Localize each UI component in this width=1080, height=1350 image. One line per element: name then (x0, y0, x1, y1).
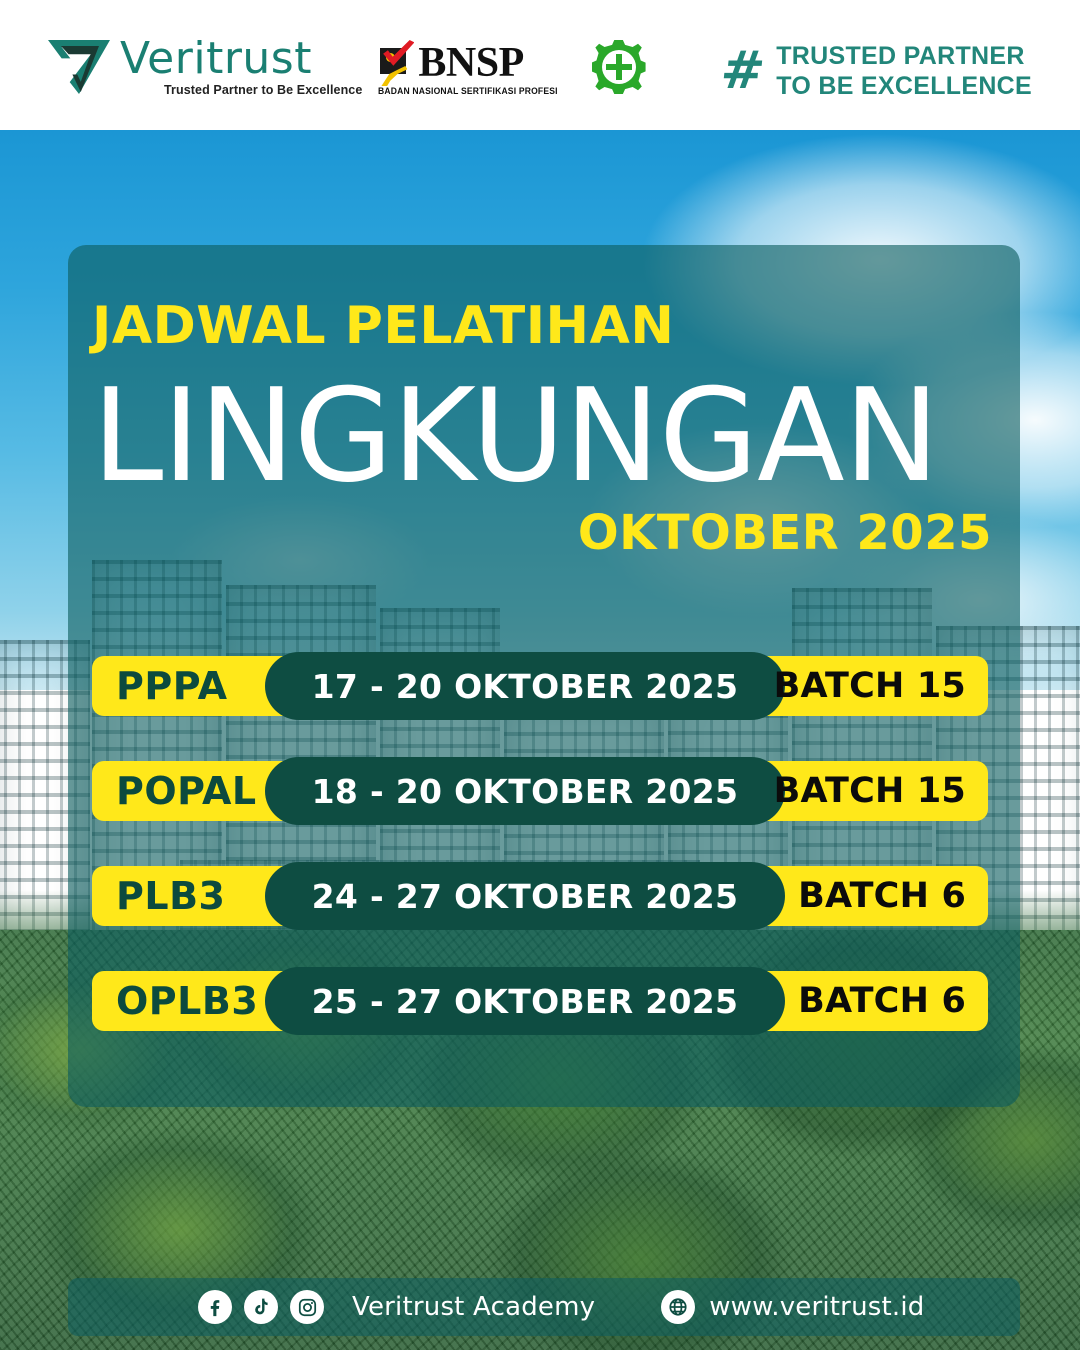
schedule-list: PPPA 17 - 20 OKTOBER 2025 BATCH 15 POPAL… (92, 652, 988, 1072)
bnsp-logo-top: BNSP (378, 38, 567, 84)
course-dates: 24 - 27 OKTOBER 2025 (312, 877, 739, 916)
batch-label: BATCH 15 (774, 656, 966, 716)
batch-label: BATCH 6 (798, 866, 966, 926)
footer-bar: Veritrust Academy www.veritrust.id (68, 1278, 1020, 1336)
course-code: POPAL (116, 761, 257, 821)
slogan-cluster: # TRUSTED PARTNER TO BE EXCELLENCE (721, 42, 1032, 101)
gear-plus-horizontal-icon (606, 64, 632, 70)
social-handle: Veritrust Academy (352, 1292, 595, 1322)
date-pill: 25 - 27 OKTOBER 2025 (265, 967, 785, 1035)
schedule-row[interactable]: PLB3 24 - 27 OKTOBER 2025 BATCH 6 (92, 862, 988, 930)
date-pill: 24 - 27 OKTOBER 2025 (265, 862, 785, 930)
course-code: OPLB3 (116, 971, 258, 1031)
batch-label: BATCH 6 (798, 971, 966, 1031)
hero-subline: OKTOBER 2025 (92, 509, 992, 557)
globe-icon[interactable] (661, 1290, 695, 1324)
green-gear-plus-icon (592, 40, 646, 94)
slogan-line-2: TO BE EXCELLENCE (776, 72, 1032, 102)
schedule-row[interactable]: POPAL 18 - 20 OKTOBER 2025 BATCH 15 (92, 757, 988, 825)
bnsp-full-name: BADAN NASIONAL SERTIFIKASI PROFESI (378, 87, 558, 96)
header-bar: Veritrust Trusted Partner to Be Excellen… (0, 0, 1080, 130)
bnsp-acronym: BNSP (418, 44, 523, 84)
facebook-icon[interactable] (198, 1290, 232, 1324)
veritrust-tagline: Trusted Partner to Be Excellence (164, 84, 362, 97)
course-code: PPPA (116, 656, 227, 716)
veritrust-wordmark: Veritrust Trusted Partner to Be Excellen… (120, 37, 362, 97)
hero-headline: LINGKUNGAN (92, 370, 992, 503)
course-dates: 25 - 27 OKTOBER 2025 (312, 982, 739, 1021)
brand-cluster: Veritrust Trusted Partner to Be Excellen… (48, 36, 646, 98)
course-dates: 18 - 20 OKTOBER 2025 (312, 772, 739, 811)
website-group: www.veritrust.id (661, 1290, 924, 1324)
slogan-lines: TRUSTED PARTNER TO BE EXCELLENCE (776, 42, 1032, 101)
poster-root: Veritrust Trusted Partner to Be Excellen… (0, 0, 1080, 1350)
hashtag-icon: # (718, 48, 764, 95)
bnsp-check-person-icon (378, 38, 416, 84)
website-url: www.veritrust.id (709, 1292, 924, 1322)
social-group: Veritrust Academy (198, 1290, 595, 1324)
date-pill: 18 - 20 OKTOBER 2025 (265, 757, 785, 825)
veritrust-chevron-logo-icon (48, 36, 110, 98)
hero-kicker: JADWAL PELATIHAN (92, 300, 992, 352)
batch-label: BATCH 15 (774, 761, 966, 821)
schedule-row[interactable]: PPPA 17 - 20 OKTOBER 2025 BATCH 15 (92, 652, 988, 720)
course-dates: 17 - 20 OKTOBER 2025 (312, 667, 739, 706)
hero-title-block: JADWAL PELATIHAN LINGKUNGAN OKTOBER 2025 (92, 300, 992, 557)
course-code: PLB3 (116, 866, 225, 926)
schedule-row[interactable]: OPLB3 25 - 27 OKTOBER 2025 BATCH 6 (92, 967, 988, 1035)
date-pill: 17 - 20 OKTOBER 2025 (265, 652, 785, 720)
tiktok-icon[interactable] (244, 1290, 278, 1324)
veritrust-name: Veritrust (120, 37, 362, 81)
bnsp-logo: BNSP BADAN NASIONAL SERTIFIKASI PROFESI (378, 38, 567, 96)
instagram-icon[interactable] (290, 1290, 324, 1324)
slogan-line-1: TRUSTED PARTNER (776, 42, 1032, 72)
